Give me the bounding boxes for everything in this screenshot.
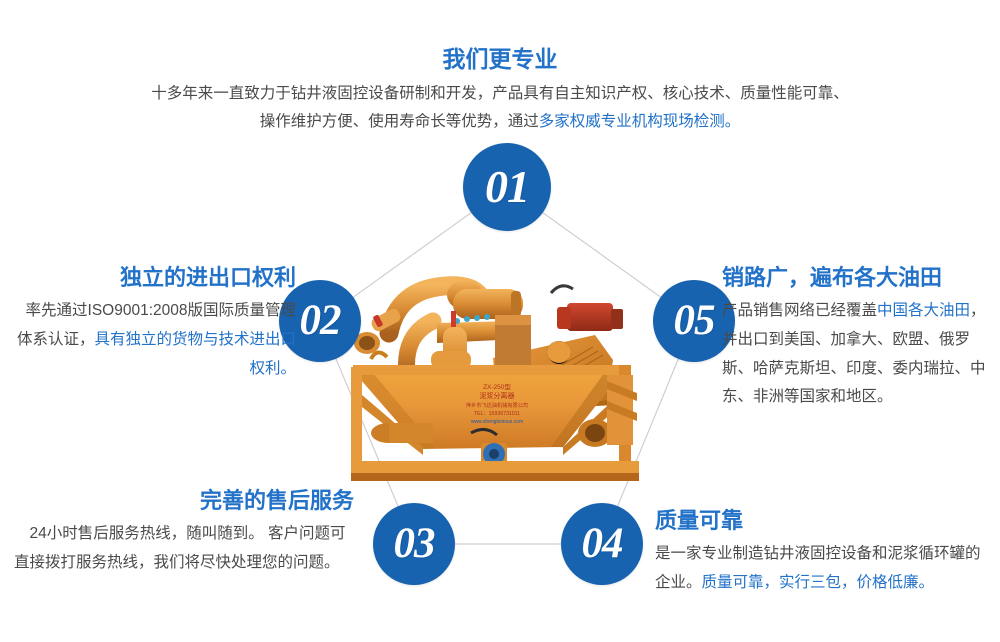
- feature-number-label-03: 03: [394, 519, 435, 568]
- feature-block-01: 我们更专业 十多年来一直致力于钻井液固控设备研制和开发，产品具有自主知识产权、核…: [150, 46, 850, 137]
- feature-block-02: 独立的进出口权利 率先通过ISO9001:2008版国际质量管理体系认证，具有独…: [14, 265, 296, 383]
- text-run-1: 多家权威专业机构现场检测。: [539, 113, 741, 130]
- feature-pentagon-infographic: ZX-250型 泥浆分离器 萍乡市飞达油机械有限公司 TEL：159367310…: [0, 0, 1000, 642]
- feature-body-04: 是一家专业制造钻井液固控设备和泥浆循环罐的企业。质量可靠，实行三包，价格低廉。: [655, 540, 990, 597]
- text-run-1: 中国各大油田: [877, 302, 970, 319]
- feature-number-circle-01[interactable]: 01: [463, 143, 551, 231]
- feature-heading-01: 我们更专业: [150, 46, 850, 74]
- svg-text:泥浆分离器: 泥浆分离器: [480, 391, 515, 400]
- text-run-0: 24小时售后服务热线，随叫随到。 客户问题可直接拨打服务热线，我们将尽快处理您的…: [14, 525, 346, 571]
- feature-heading-05: 销路广，遍布各大油田: [722, 265, 990, 291]
- feature-number-label-04: 04: [582, 519, 623, 568]
- feature-number-circle-03[interactable]: 03: [373, 503, 455, 585]
- vibrating-motor: [551, 286, 623, 331]
- feature-heading-03: 完善的售后服务: [14, 488, 354, 514]
- svg-text:萍乡市飞达油机械有限公司: 萍乡市飞达油机械有限公司: [466, 401, 528, 409]
- feature-body-02: 率先通过ISO9001:2008版国际质量管理体系认证，具有独立的货物与技术进出…: [14, 297, 296, 383]
- feature-number-circle-04[interactable]: 04: [561, 503, 643, 585]
- svg-text:TEL：15936731011: TEL：15936731011: [474, 411, 520, 417]
- text-run-0: 十多年来一直致力于钻井液固控设备研制和开发，产品具有自主知识产权、核心技术、质量…: [151, 85, 849, 131]
- feature-heading-02: 独立的进出口权利: [14, 265, 296, 291]
- mud-desander-machine-photo: ZX-250型 泥浆分离器 萍乡市飞达油机械有限公司 TEL：159367310…: [345, 255, 665, 490]
- feature-body-01: 十多年来一直致力于钻井液固控设备研制和开发，产品具有自主知识产权、核心技术、质量…: [150, 80, 850, 137]
- feature-block-04: 质量可靠 是一家专业制造钻井液固控设备和泥浆循环罐的企业。质量可靠，实行三包，价…: [655, 508, 990, 598]
- feature-body-03: 24小时售后服务热线，随叫随到。 客户问题可直接拨打服务热线，我们将尽快处理您的…: [14, 520, 354, 577]
- feature-heading-04: 质量可靠: [655, 508, 990, 534]
- text-run-0: 产品销售网络已经覆盖: [722, 302, 877, 319]
- svg-text:www.shenglonious.com: www.shenglonious.com: [471, 419, 523, 425]
- feature-number-label-02: 02: [300, 296, 341, 345]
- feature-block-05: 销路广，遍布各大油田 产品销售网络已经覆盖中国各大油田，并出口到美国、加拿大、欧…: [722, 265, 990, 412]
- feature-body-05: 产品销售网络已经覆盖中国各大油田，并出口到美国、加拿大、欧盟、俄罗斯、哈萨克斯坦…: [722, 297, 990, 412]
- feature-number-label-01: 01: [485, 160, 529, 213]
- feature-block-03: 完善的售后服务 24小时售后服务热线，随叫随到。 客户问题可直接拨打服务热线，我…: [14, 488, 354, 578]
- text-run-1: 具有独立的货物与技术进出口权利。: [94, 331, 296, 377]
- text-run-1: 质量可靠，实行三包，价格低廉。: [702, 574, 935, 591]
- svg-text:ZX-250型: ZX-250型: [483, 382, 511, 391]
- feature-number-label-05: 05: [674, 296, 715, 345]
